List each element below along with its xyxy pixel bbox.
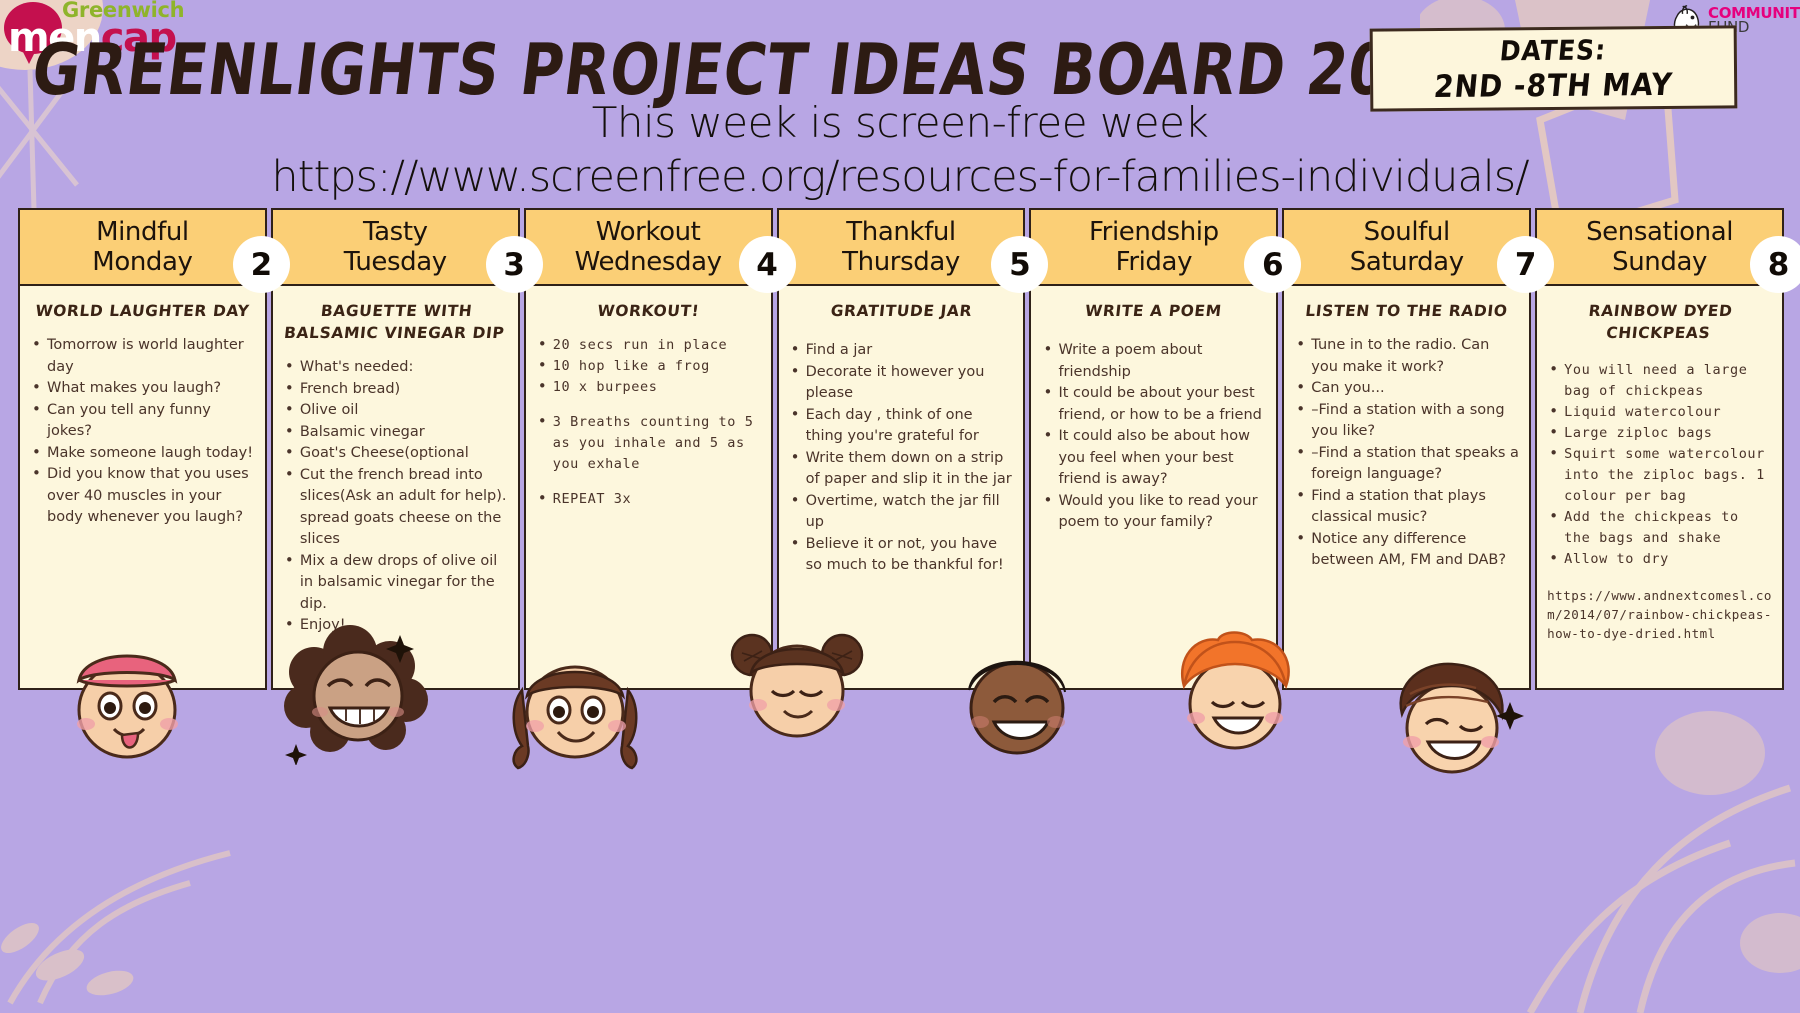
list-item: Can you tell any funny jokes? xyxy=(30,400,255,443)
card-title-wednesday: Workout! xyxy=(535,300,762,322)
day-number-badge-tuesday: 3 xyxy=(486,236,543,293)
day-header-sunday: Sensational Sunday xyxy=(1535,208,1784,286)
day-number-badge-saturday: 7 xyxy=(1497,236,1554,293)
list-item: Tune in to the radio. Can you make it wo… xyxy=(1294,335,1519,378)
day-number-badge-friday: 6 xyxy=(1244,236,1301,293)
day-column-sunday: Sensational Sunday 8 Rainbow Dyed Chickp… xyxy=(1535,208,1784,708)
day-card-sunday: Rainbow Dyed Chickpeas You will need a l… xyxy=(1535,286,1784,690)
day-line-2: Tuesday xyxy=(344,247,447,277)
list-item: Write them down on a strip of paper and … xyxy=(789,448,1014,491)
list-item: Write a poem about friendship xyxy=(1041,340,1266,383)
day-number-badge-wednesday: 4 xyxy=(739,236,796,293)
day-card-friday: Write a Poem Write a poem about friendsh… xyxy=(1029,286,1278,690)
activity-list-wednesday: 20 secs run in place 10 hop like a frog … xyxy=(536,335,761,510)
day-header-monday: Mindful Monday xyxy=(18,208,267,286)
day-header-thursday: Thankful Thursday xyxy=(777,208,1026,286)
list-item: Allow to dry xyxy=(1547,549,1772,570)
dates-label: Dates: xyxy=(1499,34,1608,67)
recipe-source-link[interactable]: https://www.andnextcomesl.com/2014/07/ra… xyxy=(1547,586,1772,643)
day-line-1: Thankful xyxy=(846,217,955,247)
day-header-text-wednesday: Workout Wednesday xyxy=(575,217,722,277)
list-spacer xyxy=(536,398,761,412)
list-item: Find a jar xyxy=(789,340,1014,362)
day-header-text-monday: Mindful Monday xyxy=(92,217,192,277)
list-item: Notice any difference between AM, FM and… xyxy=(1294,529,1519,572)
list-item: –Find a station that speaks a foreign la… xyxy=(1294,443,1519,486)
card-title-monday: World Laughter Day xyxy=(29,300,256,322)
list-item: Goat's Cheese(optional xyxy=(283,443,508,465)
card-title-tuesday: Baguette with Balsamic Vinegar Dip xyxy=(281,300,510,344)
day-header-text-friday: Friendship Friday xyxy=(1089,217,1219,277)
card-title-thursday: Gratitude Jar xyxy=(787,300,1014,322)
list-item: You will need a large bag of chickpeas xyxy=(1547,360,1772,402)
list-item: Find a station that plays classical musi… xyxy=(1294,486,1519,529)
list-item: Would you like to read your poem to your… xyxy=(1041,491,1266,534)
list-item: Believe it or not, you have so much to b… xyxy=(789,534,1014,577)
list-spacer xyxy=(536,475,761,489)
list-item: 10 x burpees xyxy=(536,377,761,398)
activity-list-saturday: Tune in to the radio. Can you make it wo… xyxy=(1294,335,1519,572)
day-card-wednesday: Workout! 20 secs run in place 10 hop lik… xyxy=(524,286,773,690)
activity-list-sunday: You will need a large bag of chickpeas L… xyxy=(1547,360,1772,570)
day-line-1: Sensational xyxy=(1586,217,1733,247)
day-column-tuesday: Tasty Tuesday 3 Baguette with Balsamic V… xyxy=(271,208,520,708)
list-item: Squirt some watercolour into the ziploc … xyxy=(1547,444,1772,507)
activity-list-monday: Tomorrow is world laughter day What make… xyxy=(30,335,255,529)
list-item: Mix a dew drops of olive oil in balsamic… xyxy=(283,551,508,616)
day-header-text-sunday: Sensational Sunday xyxy=(1586,217,1733,277)
day-card-monday: World Laughter Day Tomorrow is world lau… xyxy=(18,286,267,690)
list-item: Each day , think of one thing you're gra… xyxy=(789,405,1014,448)
day-line-1: Workout xyxy=(596,217,701,247)
card-title-sunday: Rainbow Dyed Chickpeas xyxy=(1545,300,1774,344)
list-item: 20 secs run in place xyxy=(536,335,761,356)
list-item: Liquid watercolour xyxy=(1547,402,1772,423)
list-item: French bread) xyxy=(283,379,508,401)
activity-list-friday: Write a poem about friendship It could b… xyxy=(1041,340,1266,534)
day-columns: Mindful Monday 2 World Laughter Day Tomo… xyxy=(18,208,1784,708)
list-item: 3 Breaths counting to 5 as you inhale an… xyxy=(536,412,761,475)
day-line-2: Friday xyxy=(1116,247,1192,277)
list-item: Did you know that you uses over 40 muscl… xyxy=(30,464,255,529)
day-header-friday: Friendship Friday xyxy=(1029,208,1278,286)
day-line-2: Monday xyxy=(92,247,192,277)
day-line-2: Thursday xyxy=(842,247,960,277)
list-item: Cut the french bread into slices(Ask an … xyxy=(283,465,508,551)
activity-list-tuesday: What's needed: French bread) Olive oil B… xyxy=(283,357,508,637)
list-item: Make someone laugh today! xyxy=(30,443,255,465)
day-column-monday: Mindful Monday 2 World Laughter Day Tomo… xyxy=(18,208,267,708)
day-column-wednesday: Workout Wednesday 4 Workout! 20 secs run… xyxy=(524,208,773,708)
day-card-tuesday: Baguette with Balsamic Vinegar Dip What'… xyxy=(271,286,520,690)
list-item: Add the chickpeas to the bags and shake xyxy=(1547,507,1772,549)
day-header-text-saturday: Soulful Saturday xyxy=(1350,217,1464,277)
list-item: It could also be about how you feel when… xyxy=(1041,426,1266,491)
day-number-badge-monday: 2 xyxy=(233,236,290,293)
list-item: Enjoy! xyxy=(283,615,508,637)
dates-value: 2nd -8th May xyxy=(1433,66,1675,104)
list-item: Decorate it however you please xyxy=(789,362,1014,405)
list-item: 10 hop like a frog xyxy=(536,356,761,377)
list-item: Overtime, watch the jar fill up xyxy=(789,491,1014,534)
day-line-1: Tasty xyxy=(363,217,428,247)
list-item: Can you... xyxy=(1294,378,1519,400)
list-item: Large ziploc bags xyxy=(1547,423,1772,444)
day-header-text-thursday: Thankful Thursday xyxy=(842,217,960,277)
list-item: It could be about your best friend, or h… xyxy=(1041,383,1266,426)
day-line-1: Friendship xyxy=(1089,217,1219,247)
decorative-leaves-bottom-left xyxy=(0,753,380,1013)
card-title-friday: Write a Poem xyxy=(1040,300,1267,322)
list-item: –Find a station with a song you like? xyxy=(1294,400,1519,443)
day-header-saturday: Soulful Saturday xyxy=(1282,208,1531,286)
day-card-saturday: Listen to the Radio Tune in to the radio… xyxy=(1282,286,1531,690)
day-header-wednesday: Workout Wednesday xyxy=(524,208,773,286)
day-header-text-tuesday: Tasty Tuesday xyxy=(344,217,447,277)
list-item: Balsamic vinegar xyxy=(283,422,508,444)
list-item: What's needed: xyxy=(283,357,508,379)
day-line-2: Saturday xyxy=(1350,247,1464,277)
decorative-leaves-bottom-right xyxy=(1280,693,1800,1013)
card-title-saturday: Listen to the Radio xyxy=(1293,300,1520,322)
activity-list-thursday: Find a jar Decorate it however you pleas… xyxy=(789,340,1014,577)
day-header-tuesday: Tasty Tuesday xyxy=(271,208,520,286)
day-column-thursday: Thankful Thursday 5 Gratitude Jar Find a… xyxy=(777,208,1026,708)
dates-box: Dates: 2nd -8th May xyxy=(1370,25,1738,111)
resource-url[interactable]: https://www.screenfree.org/resources-for… xyxy=(0,152,1800,202)
day-line-1: Soulful xyxy=(1364,217,1450,247)
day-card-thursday: Gratitude Jar Find a jar Decorate it how… xyxy=(777,286,1026,690)
list-item: Olive oil xyxy=(283,400,508,422)
list-item: What makes you laugh? xyxy=(30,378,255,400)
day-column-friday: Friendship Friday 6 Write a Poem Write a… xyxy=(1029,208,1278,708)
list-item: REPEAT 3x xyxy=(536,489,761,510)
day-line-2: Sunday xyxy=(1612,247,1707,277)
day-number-badge-sunday: 8 xyxy=(1750,236,1800,293)
day-line-2: Wednesday xyxy=(575,247,722,277)
list-item: Tomorrow is world laughter day xyxy=(30,335,255,378)
day-column-saturday: Soulful Saturday 7 Listen to the Radio T… xyxy=(1282,208,1531,708)
day-line-1: Mindful xyxy=(96,217,189,247)
